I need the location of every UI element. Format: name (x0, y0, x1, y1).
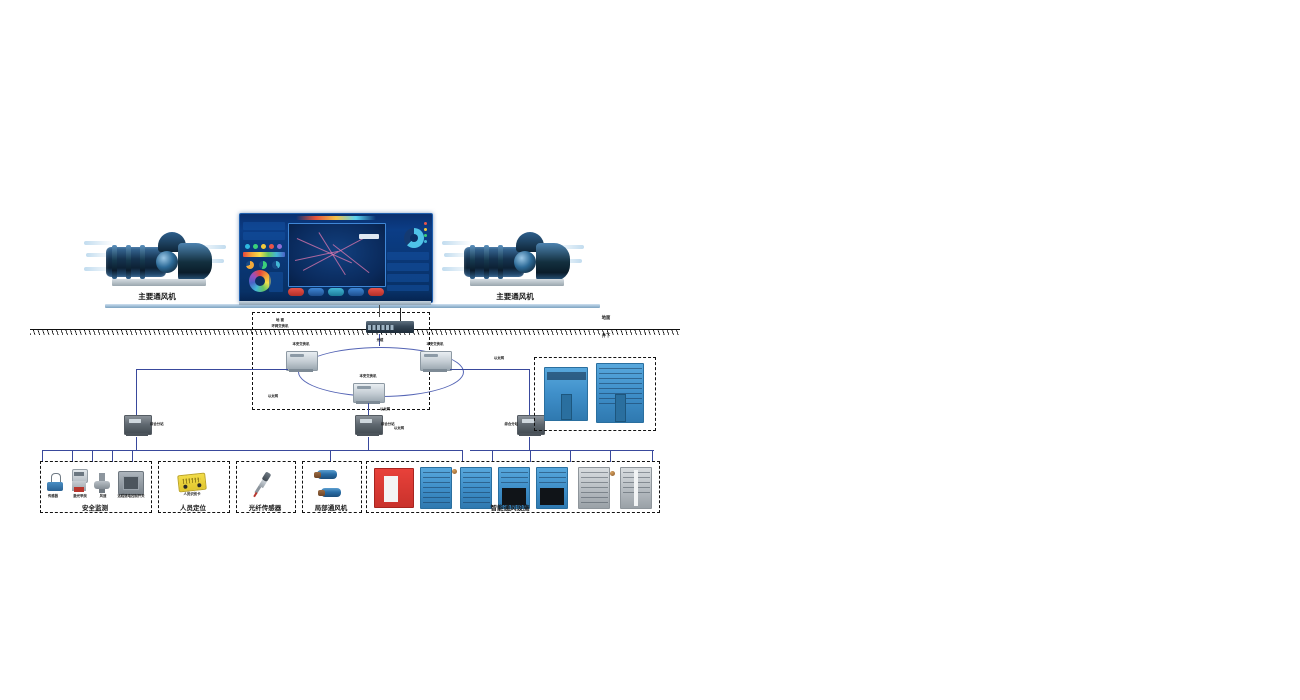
ventilation-door-b[interactable] (596, 363, 644, 423)
is-switch-left-label: 本安交换机 (276, 343, 326, 347)
fan-base (470, 279, 564, 286)
bottom-bus-center (330, 450, 462, 451)
dashboard-right-panel (387, 220, 429, 296)
bottom-bus-left (42, 450, 332, 451)
ethernet-label-right: 以太网 (482, 357, 516, 361)
ventilation-facility-door-4[interactable] (536, 467, 568, 509)
fan-diffuser (536, 243, 570, 281)
device-gas-sensor-label: 传感器 (42, 495, 64, 499)
device-local-ventilator-1[interactable] (314, 469, 340, 480)
dashboard-stand (239, 301, 431, 305)
is-switch-bottom-label: 本安交换机 (343, 375, 393, 379)
group-fiber-sensor-label: 光纤传感器 (236, 505, 294, 512)
ethernet-label-left: 以太网 (256, 395, 290, 399)
device-wind-speed-sensor[interactable] (94, 473, 110, 493)
group-intelligent-ventilation-label: 智能通风设施 (430, 505, 590, 512)
link-isw-left-horizontal (136, 369, 288, 370)
ventilation-facility-door-3[interactable] (498, 467, 530, 509)
dashboard-network-map[interactable] (288, 223, 386, 287)
fan-impeller (514, 251, 536, 273)
device-gas-sensor[interactable] (46, 473, 64, 493)
ethernet-label-bottom: 以太网 (368, 408, 402, 412)
fan-base (112, 279, 206, 286)
link-isw-right-vertical (529, 369, 530, 417)
fan-body-right (464, 239, 564, 283)
main-ventilator-left (92, 223, 222, 295)
device-remote-power-switch-label: 远程馈电控制开关 (114, 495, 148, 499)
ventilation-facility-shutter-1[interactable] (578, 467, 610, 509)
sub1-drop (136, 437, 137, 451)
surface-ring-switch-label-line2: 环网交换机 (258, 325, 302, 329)
surface-ring-switch[interactable] (366, 317, 414, 334)
group-safety-monitoring-label: 安全监测 (50, 505, 140, 512)
ventilation-facility-door-2[interactable] (460, 467, 492, 509)
fan-body-left (106, 239, 206, 283)
fan-diffuser (178, 243, 212, 281)
control-dashboard-screen[interactable] (239, 213, 433, 303)
intrinsically-safe-switch-bottom[interactable] (353, 383, 383, 405)
dashboard-left-panel (243, 220, 285, 296)
surface-ring-switch-label-line1: 地 面 (258, 319, 302, 323)
sub3-drop (529, 437, 530, 451)
counterweight-ball-1 (452, 469, 457, 474)
fiber-cable-label: 光缆 (364, 339, 396, 343)
integrated-substation-1-label: 综合分站 (150, 423, 190, 427)
bottom-bus-right (470, 450, 654, 451)
integrated-substation-2-label: 综合分站 (381, 423, 421, 427)
intrinsically-safe-switch-right[interactable] (420, 351, 450, 373)
integrated-substation-1[interactable] (124, 415, 150, 437)
sub2-drop (368, 437, 369, 451)
device-laser-methane-label: 激光甲烷 (66, 495, 94, 499)
device-laser-methane[interactable] (70, 469, 88, 493)
dashboard-title-bar (296, 216, 376, 220)
integrated-substation-2[interactable] (355, 415, 381, 437)
device-personnel-id-card-label: 人员识别卡 (170, 493, 214, 497)
color-wheel-widget (249, 270, 271, 292)
device-personnel-id-card[interactable] (177, 473, 207, 493)
fan-impeller (156, 251, 178, 273)
ethernet-label-center: 以太网 (382, 427, 416, 431)
group-local-ventilator-label: 局部通风机 (302, 505, 360, 512)
diagram-canvas: 主要通风机 主要通风机 (0, 0, 1300, 700)
device-remote-power-switch[interactable] (118, 471, 142, 493)
device-wind-speed-label: 风速 (92, 495, 114, 499)
gauge-donut (404, 228, 424, 248)
device-local-ventilator-2[interactable] (318, 487, 344, 498)
ventilation-facility-shutter-2[interactable] (620, 467, 652, 509)
screen-to-switch-link (379, 305, 380, 317)
group-personnel-positioning-label: 人员定位 (158, 505, 228, 512)
ventilation-door-a[interactable] (544, 367, 588, 421)
integrated-substation-3-label: 综合分站 (478, 423, 518, 427)
surface-zone-label: 地面 (586, 317, 626, 322)
main-ventilator-right (450, 223, 580, 295)
main-ventilator-right-label: 主要通风机 (450, 293, 580, 301)
is-switch-right-label: 本安交换机 (410, 343, 460, 347)
dashboard-button-row[interactable] (288, 288, 384, 297)
ventilation-facility-door-1[interactable] (420, 467, 452, 509)
link-isw-left-vertical (136, 369, 137, 417)
ventilation-facility-air-curtain[interactable] (374, 468, 414, 508)
main-ventilator-left-label: 主要通风机 (92, 293, 222, 301)
antenna-icon (400, 308, 401, 321)
underground-zone-label: 井下 (586, 335, 626, 340)
link-isw-right-horizontal (450, 369, 530, 370)
mine-ventilation-architecture-diagram: 主要通风机 主要通风机 (30, 195, 680, 525)
intrinsically-safe-switch-left[interactable] (286, 351, 316, 373)
counterweight-ball-2 (610, 471, 615, 476)
